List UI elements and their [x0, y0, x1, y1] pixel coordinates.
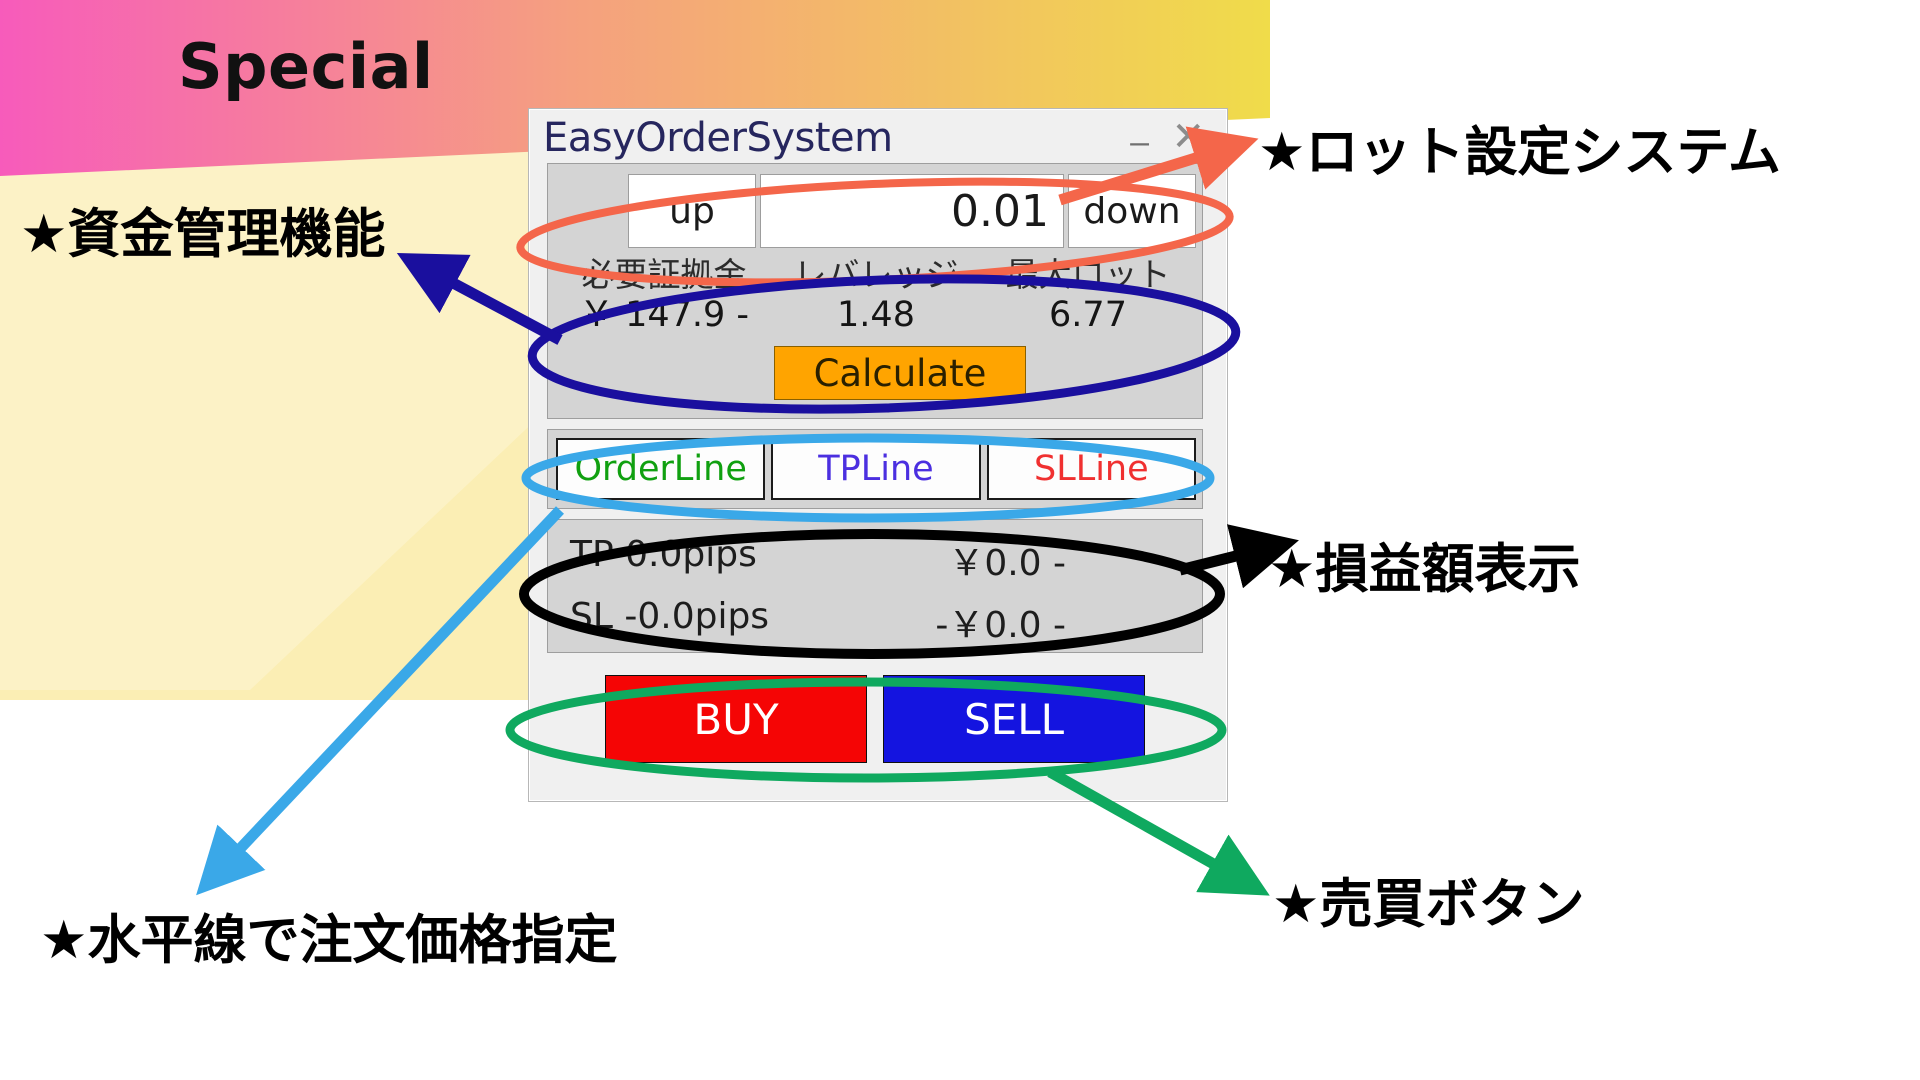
sl-line-button[interactable]: SLLine [987, 438, 1196, 500]
stat-value-required-margin: ￥ 147.9 - [558, 295, 770, 336]
window-titlebar: EasyOrderSystem – ✕ [529, 109, 1227, 165]
lot-value-input[interactable]: 0.01 [760, 174, 1064, 248]
sell-button[interactable]: SELL [883, 675, 1145, 763]
trade-buttons-row: BUY SELL [605, 675, 1145, 763]
sl-amount-value: -￥0.0 - [870, 596, 1182, 648]
special-heading: Special [178, 30, 434, 103]
tp-line-button[interactable]: TPLine [771, 438, 980, 500]
stat-value-leverage: 1.48 [770, 295, 982, 336]
sl-pips-label: SL -0.0pips [570, 596, 870, 648]
easy-order-system-window: EasyOrderSystem – ✕ up 0.01 down 必要証拠金 レ… [528, 108, 1228, 802]
buy-button[interactable]: BUY [605, 675, 867, 763]
stop-loss-row: SL -0.0pips -￥0.0 - [570, 596, 1182, 648]
stats-value-row: ￥ 147.9 - 1.48 6.77 [558, 295, 1194, 336]
lot-up-button[interactable]: up [628, 174, 756, 248]
tp-amount-value: ￥0.0 - [870, 534, 1182, 586]
annotation-trade-buttons: ★売買ボタン [1272, 862, 1585, 938]
annotation-profit-loss: ★損益額表示 [1268, 527, 1581, 603]
stat-header-max-lot: 最大ロット [982, 256, 1194, 295]
screenshot-stage: Special EasyOrderSystem – ✕ up 0.01 down… [0, 0, 1920, 1080]
close-icon[interactable]: ✕ [1171, 117, 1205, 157]
calculate-button[interactable]: Calculate [774, 346, 1026, 400]
window-body: up 0.01 down 必要証拠金 レバレッジ 最大ロット ￥ 147.9 -… [539, 163, 1211, 791]
minimize-icon[interactable]: – [1130, 125, 1149, 159]
stat-value-max-lot: 6.77 [982, 295, 1194, 336]
lot-down-button[interactable]: down [1068, 174, 1196, 248]
line-buttons-group: OrderLine TPLine SLLine [547, 429, 1203, 509]
lot-settings-group: up 0.01 down 必要証拠金 レバレッジ 最大ロット ￥ 147.9 -… [547, 163, 1203, 419]
lot-stepper-row: up 0.01 down [556, 174, 1196, 248]
stats-header-row: 必要証拠金 レバレッジ 最大ロット [558, 256, 1194, 295]
annotation-lot-system: ★ロット設定システム [1258, 110, 1781, 186]
order-line-button[interactable]: OrderLine [556, 438, 765, 500]
annotation-order-price: ★水平線で注文価格指定 [40, 898, 618, 974]
stat-header-leverage: レバレッジ [770, 256, 982, 295]
line-buttons-row: OrderLine TPLine SLLine [556, 438, 1196, 500]
profit-loss-group: TP 0.0pips ￥0.0 - SL -0.0pips -￥0.0 - [547, 519, 1203, 653]
tp-pips-label: TP 0.0pips [570, 534, 870, 586]
annotation-money-management: ★資金管理機能 [20, 192, 386, 268]
stat-header-required-margin: 必要証拠金 [558, 256, 770, 295]
take-profit-row: TP 0.0pips ￥0.0 - [570, 534, 1182, 586]
account-stats: 必要証拠金 レバレッジ 最大ロット ￥ 147.9 - 1.48 6.77 [558, 256, 1194, 336]
window-title: EasyOrderSystem [543, 115, 893, 161]
